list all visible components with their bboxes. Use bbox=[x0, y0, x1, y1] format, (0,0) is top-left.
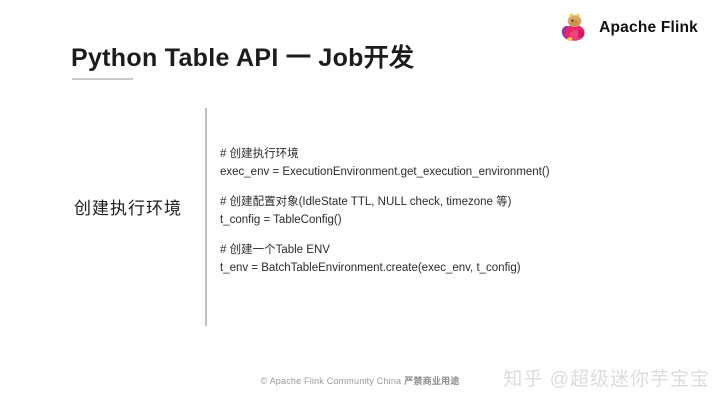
code-group: # 创建配置对象(IdleState TTL, NULL check, time… bbox=[220, 194, 550, 229]
code-line: # 创建执行环境 bbox=[220, 146, 550, 164]
section-label: 创建执行环境 bbox=[58, 194, 198, 219]
code-group: # 创建执行环境 exec_env = ExecutionEnvironment… bbox=[220, 146, 550, 181]
slide-canvas: Apache Flink Python Table API 一 Job开发 创建… bbox=[0, 0, 720, 405]
footer-notice: 严禁商业用途 bbox=[404, 376, 459, 386]
code-block: # 创建执行环境 exec_env = ExecutionEnvironment… bbox=[220, 146, 550, 277]
code-line: exec_env = ExecutionEnvironment.get_exec… bbox=[220, 164, 550, 182]
page-title: Python Table API 一 Job开发 bbox=[71, 38, 414, 74]
title-underline bbox=[72, 78, 133, 80]
code-line: # 创建配置对象(IdleState TTL, NULL check, time… bbox=[220, 194, 550, 212]
footer-copyright: © Apache Flink Community China bbox=[261, 376, 402, 386]
code-line: # 创建一个Table ENV bbox=[220, 242, 550, 260]
brand-name: Apache Flink bbox=[599, 19, 698, 37]
code-line: t_config = TableConfig() bbox=[220, 212, 550, 230]
code-group: # 创建一个Table ENV t_env = BatchTableEnviro… bbox=[220, 242, 550, 277]
vertical-divider bbox=[205, 108, 207, 326]
flink-squirrel-icon bbox=[557, 11, 591, 45]
zhihu-watermark: 知乎 @超级迷你芋宝宝 bbox=[503, 364, 710, 391]
code-line: t_env = BatchTableEnvironment.create(exe… bbox=[220, 260, 550, 278]
brand-lockup: Apache Flink bbox=[557, 11, 698, 45]
